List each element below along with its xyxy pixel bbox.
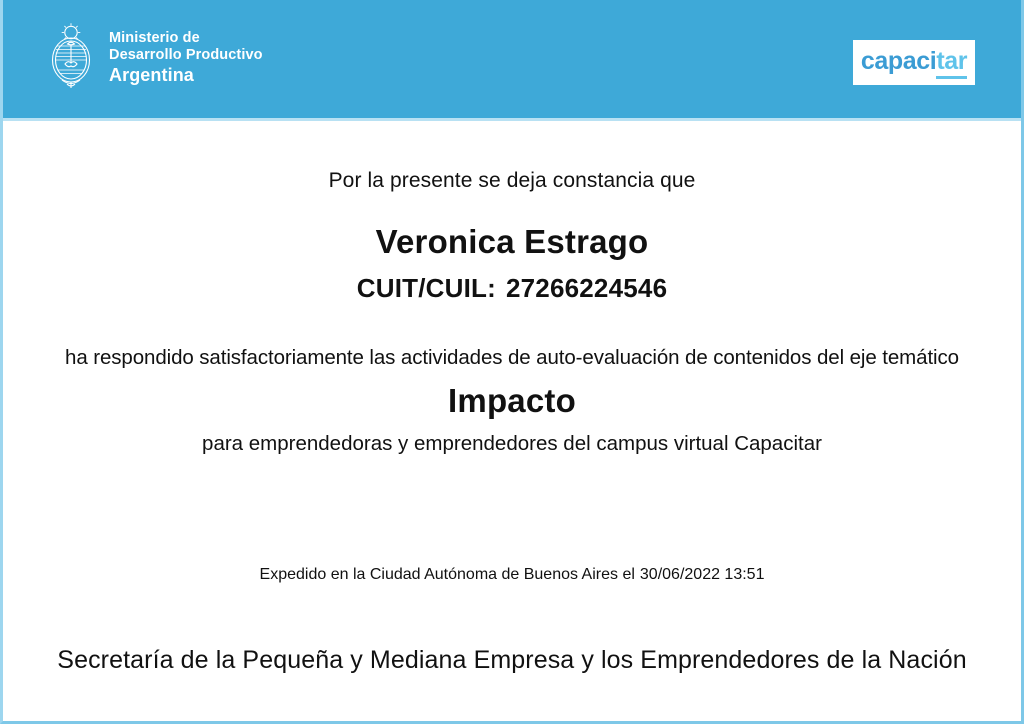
capacitar-wordmark: capacitar: [861, 49, 967, 74]
capacitar-wordmark-part1: capaci: [861, 47, 936, 75]
recipient-name: Veronica Estrago: [3, 223, 1021, 261]
certificate-page: Ministerio de Desarrollo Productivo Arge…: [0, 0, 1024, 724]
ministry-country: Argentina: [109, 65, 263, 86]
ministry-lockup: Ministerio de Desarrollo Productivo Arge…: [45, 20, 263, 92]
issued-line: Expedido en la Ciudad Autónoma de Buenos…: [3, 566, 1021, 584]
argentina-coat-of-arms-icon: [45, 20, 97, 92]
recipient-id: CUIT/CUIL:27266224546: [3, 273, 1021, 304]
audience-line: para emprendedoras y emprendedores del c…: [3, 432, 1021, 456]
certificate-body: Por la presente se deja constancia que V…: [3, 121, 1021, 721]
statement-line: ha respondido satisfactoriamente las act…: [3, 346, 1021, 370]
ministry-line-1: Ministerio de: [109, 30, 263, 47]
capacitar-logo: capacitar: [853, 40, 975, 85]
issued-prefix: Expedido en la Ciudad Autónoma de Buenos…: [260, 566, 635, 583]
ministry-text-block: Ministerio de Desarrollo Productivo Arge…: [109, 26, 263, 86]
intro-line: Por la presente se deja constancia que: [3, 169, 1021, 193]
capacitar-wordmark-part2: tar: [936, 47, 967, 79]
issued-datetime: 30/06/2022 13:51: [640, 566, 765, 583]
recipient-id-value: 27266224546: [506, 273, 667, 303]
topic-name: Impacto: [3, 382, 1021, 420]
recipient-id-label: CUIT/CUIL:: [357, 273, 496, 303]
secretariat-line: Secretaría de la Pequeña y Mediana Empre…: [3, 646, 1021, 675]
ministry-line-2: Desarrollo Productivo: [109, 47, 263, 64]
